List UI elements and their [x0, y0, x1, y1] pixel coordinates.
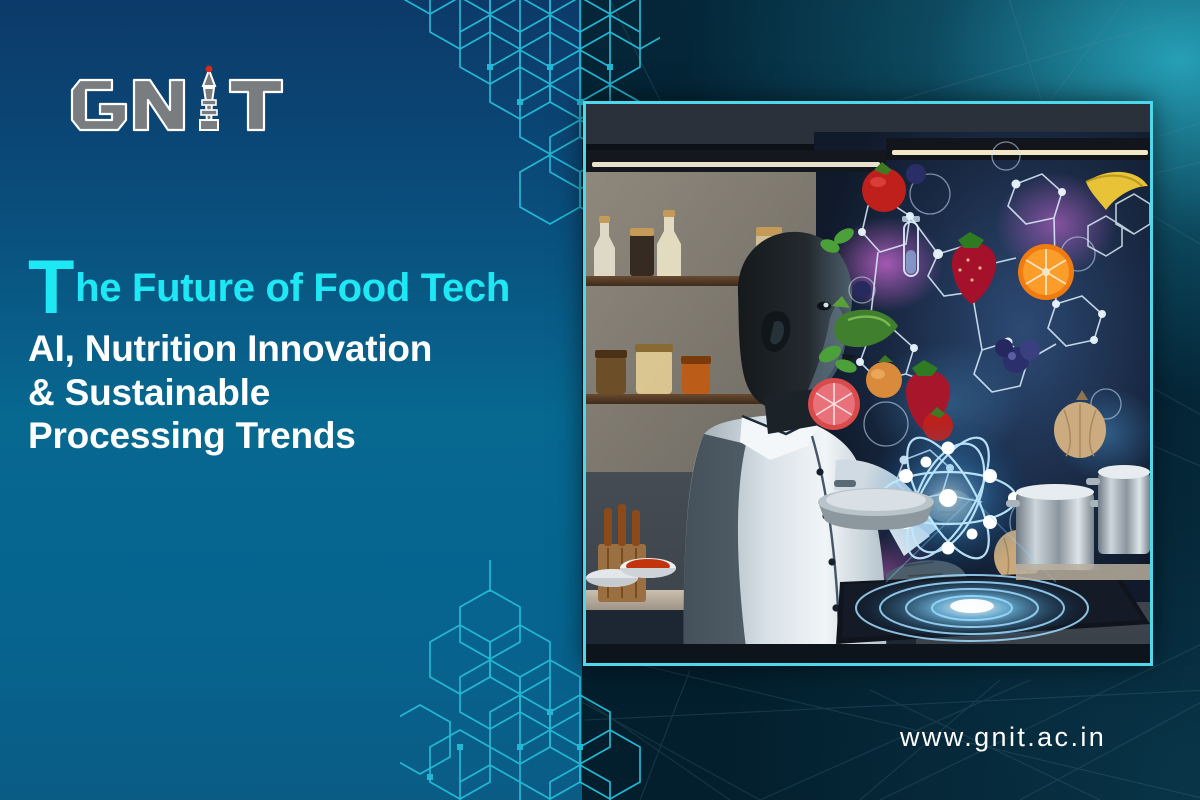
- subtitle-line-3: Processing Trends: [28, 414, 568, 457]
- headline-block: The Future of Food Tech AI, Nutrition In…: [28, 258, 568, 457]
- gnit-logo[interactable]: [68, 62, 318, 134]
- headline-dropcap: T: [28, 258, 74, 317]
- subtitle-line-1: AI, Nutrition Innovation: [28, 327, 568, 370]
- hero-kitchen-scene: [586, 104, 1150, 663]
- hero-image-frame: [583, 101, 1153, 666]
- headline-line-1-rest: he Future of Food Tech: [75, 266, 510, 310]
- logo-red-dot-icon: [206, 66, 213, 73]
- monument-pen-nib-icon: [200, 66, 218, 130]
- website-url[interactable]: www.gnit.ac.in: [900, 722, 1106, 753]
- subtitle-line-2: & Sustainable: [28, 371, 568, 414]
- headline-subtitle: AI, Nutrition Innovation & Sustainable P…: [28, 327, 568, 457]
- headline-line-1: The Future of Food Tech: [28, 258, 568, 317]
- poster-canvas: The Future of Food Tech AI, Nutrition In…: [0, 0, 1200, 800]
